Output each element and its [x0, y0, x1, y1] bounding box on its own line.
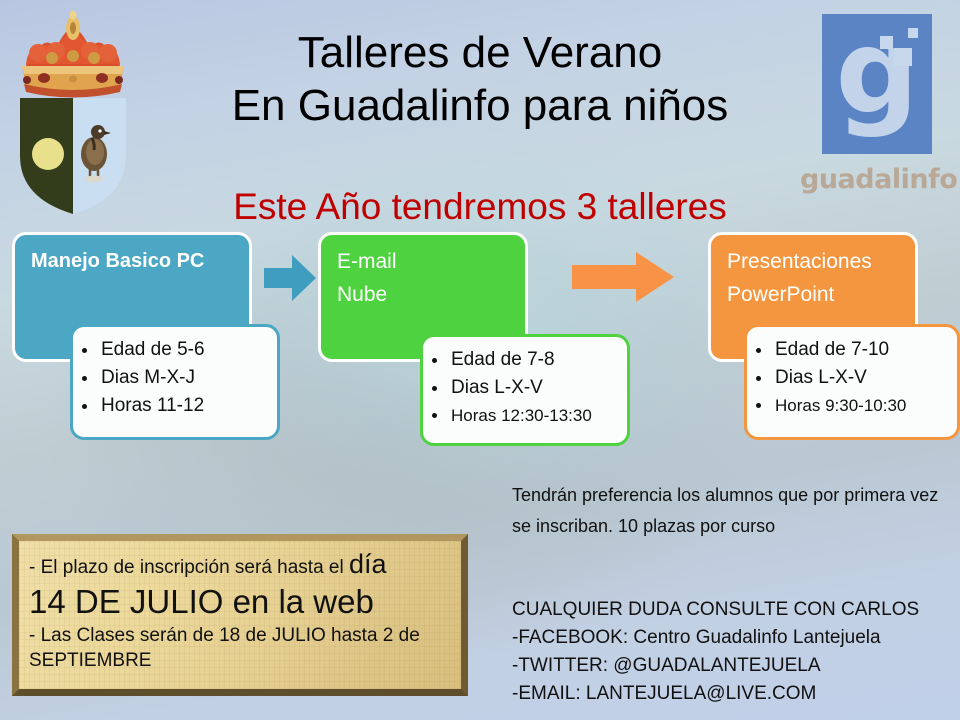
logo-chip-tiny-icon: [908, 28, 918, 38]
title-line-2: En Guadalinfo para niños: [130, 79, 830, 132]
plaque-line-3: - Las Clases serán de 18 de JULIO hasta …: [29, 623, 453, 673]
contact-twitter: -TWITTER: @GUADALANTEJUELA: [512, 652, 952, 680]
contact-heading: CUALQUIER DUDA CONSULTE CON CARLOS: [512, 596, 952, 624]
list-item: Edad de 7-8: [449, 346, 617, 374]
plaque-line-1: - El plazo de inscripción será hasta el …: [29, 551, 453, 581]
list-item: Dias L-X-V: [449, 374, 617, 402]
contact-email: -EMAIL: LANTEJUELA@LIVE.COM: [512, 680, 952, 708]
list-item: Edad de 5-6: [99, 336, 267, 364]
workshop-2-title-line-1: E-mail: [337, 245, 515, 278]
workshop-3-title-line-2: PowerPoint: [727, 278, 905, 311]
workshop-1-details: Edad de 5-6 Dias M-X-J Horas 11-12: [70, 324, 280, 440]
plaque-line-2: 14 DE JULIO en la web: [29, 581, 453, 623]
workshop-1-title: Manejo Basico PC: [31, 245, 239, 278]
workshop-3-detail-list: Edad de 7-10 Dias L-X-V Horas 9:30-10:30: [747, 327, 957, 428]
workshop-3-title: Presentaciones PowerPoint: [727, 245, 905, 311]
title-line-1: Talleres de Verano: [130, 26, 830, 79]
workshop-3-title-line-1: Presentaciones: [727, 245, 905, 278]
guadalinfo-logo-square: g: [822, 14, 932, 154]
contact-block: CUALQUIER DUDA CONSULTE CON CARLOS -FACE…: [512, 596, 952, 708]
workshop-2-detail-list: Edad de 7-8 Dias L-X-V Horas 12:30-13:30: [423, 337, 627, 438]
logo-chip-medium-icon: [894, 48, 912, 66]
workshop-3-details: Edad de 7-10 Dias L-X-V Horas 9:30-10:30: [744, 324, 960, 440]
plaque-line-1-prefix: - El plazo de inscripción será hasta el: [29, 557, 349, 578]
page-subtitle: Este Año tendremos 3 talleres: [100, 186, 860, 228]
workshop-2-title-line-2: Nube: [337, 278, 515, 311]
list-item: Dias L-X-V: [773, 364, 947, 392]
workshop-2-title: E-mail Nube: [337, 245, 515, 311]
list-item: Dias M-X-J: [99, 364, 267, 392]
list-item: Horas 11-12: [99, 392, 267, 420]
arrow-teal-icon: [262, 252, 318, 304]
contact-facebook: -FACEBOOK: Centro Guadalinfo Lantejuela: [512, 624, 952, 652]
list-item: Horas 12:30-13:30: [449, 402, 617, 430]
preference-note: Tendrán preferencia los alumnos que por …: [512, 480, 952, 542]
plaque-line-1-emphasis: día: [349, 549, 387, 579]
list-item: Edad de 7-10: [773, 336, 947, 364]
list-item: Horas 9:30-10:30: [773, 392, 947, 420]
logo-chip-small-icon: [880, 36, 893, 49]
workshop-1-detail-list: Edad de 5-6 Dias M-X-J Horas 11-12: [73, 327, 277, 428]
page-title: Talleres de Verano En Guadalinfo para ni…: [130, 26, 830, 132]
enrollment-deadline-plaque: - El plazo de inscripción será hasta el …: [12, 534, 468, 696]
arrow-orange-icon: [570, 250, 676, 304]
poster-canvas: g guadalinfo Talleres de Verano En Guada…: [0, 0, 960, 720]
workshop-2-details: Edad de 7-8 Dias L-X-V Horas 12:30-13:30: [420, 334, 630, 446]
